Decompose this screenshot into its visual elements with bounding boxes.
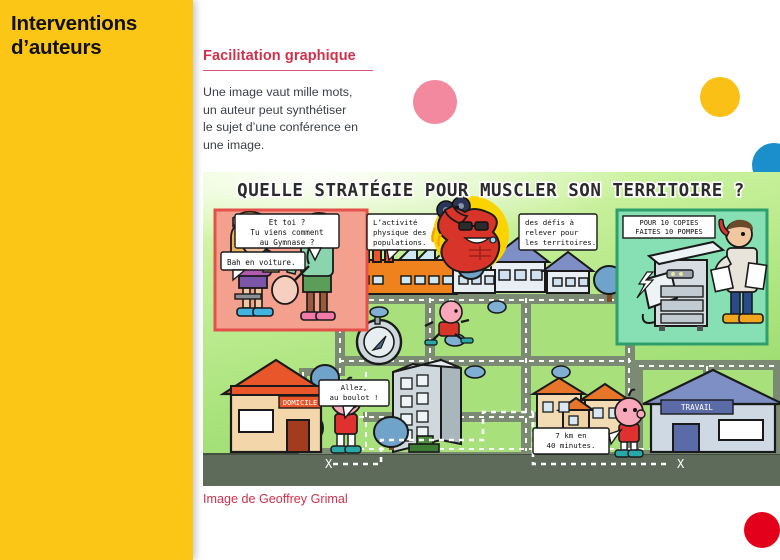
left-yellow-panel: Interventions d’auteurs	[0, 0, 193, 560]
go-to-work-line2: au boulot !	[330, 393, 379, 402]
copies-sign: POUR 10 COPIES FAITES 10 POMPES	[623, 216, 715, 238]
activity-line1: L’activité	[373, 218, 418, 227]
challenge-line2: relever pour	[525, 228, 579, 237]
challenge-line3: les territoires.	[525, 238, 596, 247]
marker-end: X	[677, 457, 685, 471]
illustration-image: Et toi ? Tu viens comment au Gymnase ? B…	[203, 172, 780, 486]
illustration-title: QUELLE STRATÉGIE POUR MUSCLER SON TERRIT…	[237, 179, 745, 201]
bubble-gym-line2: Tu viens comment	[250, 228, 323, 237]
go-to-work-line1: Allez,	[341, 383, 368, 392]
speech-bubble-challenge: des défis à relever pour les territoires…	[519, 214, 597, 250]
body-line-1: Une image vaut mille mots,	[203, 84, 403, 102]
bubble-gym-answer: Bah en voiture.	[227, 258, 296, 267]
body-line-4: une image.	[203, 137, 403, 155]
image-caption: Image de Geoffrey Grimal	[203, 492, 348, 506]
distance-line1: 7 km en	[555, 431, 586, 440]
home-sign: DOMICILE	[279, 396, 321, 408]
photocopier-scene-panel: POUR 10 COPIES FAITES 10 POMPES	[617, 210, 767, 344]
page-title: Interventions d’auteurs	[11, 12, 186, 60]
marker-start: X	[325, 457, 333, 471]
muscle-heart-mascot	[432, 196, 509, 272]
body-line-3: le sujet d’une conférence en	[203, 119, 403, 137]
speech-bubble-distance: 7 km en 40 minutes.	[533, 428, 621, 454]
activity-line3: populations.	[373, 238, 426, 247]
work-sign-label: TRAVAIL	[681, 403, 713, 412]
bubble-gym-line3: au Gymnase ?	[260, 238, 315, 247]
home-sign-label: DOMICILE	[283, 398, 318, 407]
challenge-line1: des défis à	[525, 218, 574, 227]
heading-underline	[203, 70, 373, 71]
work-sign: TRAVAIL	[661, 400, 733, 414]
section-body: Une image vaut mille mots, un auteur peu…	[203, 84, 403, 154]
content-column: Facilitation graphique Une image vaut mi…	[203, 0, 780, 560]
activity-line2: physique des	[373, 228, 426, 237]
body-line-2: un auteur peut synthétiser	[203, 102, 403, 120]
section-heading: Facilitation graphique	[203, 48, 356, 64]
distance-line2: 40 minutes.	[547, 441, 596, 450]
bubble-gym-line1: Et toi ?	[269, 218, 306, 227]
copies-line1: POUR 10 COPIES	[639, 219, 698, 227]
svg-text:QUELLE STRATÉGIE POUR MUSCLER: QUELLE STRATÉGIE POUR MUSCLER SON TERRIT…	[237, 179, 745, 201]
copies-line2: FAITES 10 POMPES	[635, 228, 702, 236]
gym-scene-panel: Et toi ? Tu viens comment au Gymnase ? B…	[215, 210, 367, 330]
